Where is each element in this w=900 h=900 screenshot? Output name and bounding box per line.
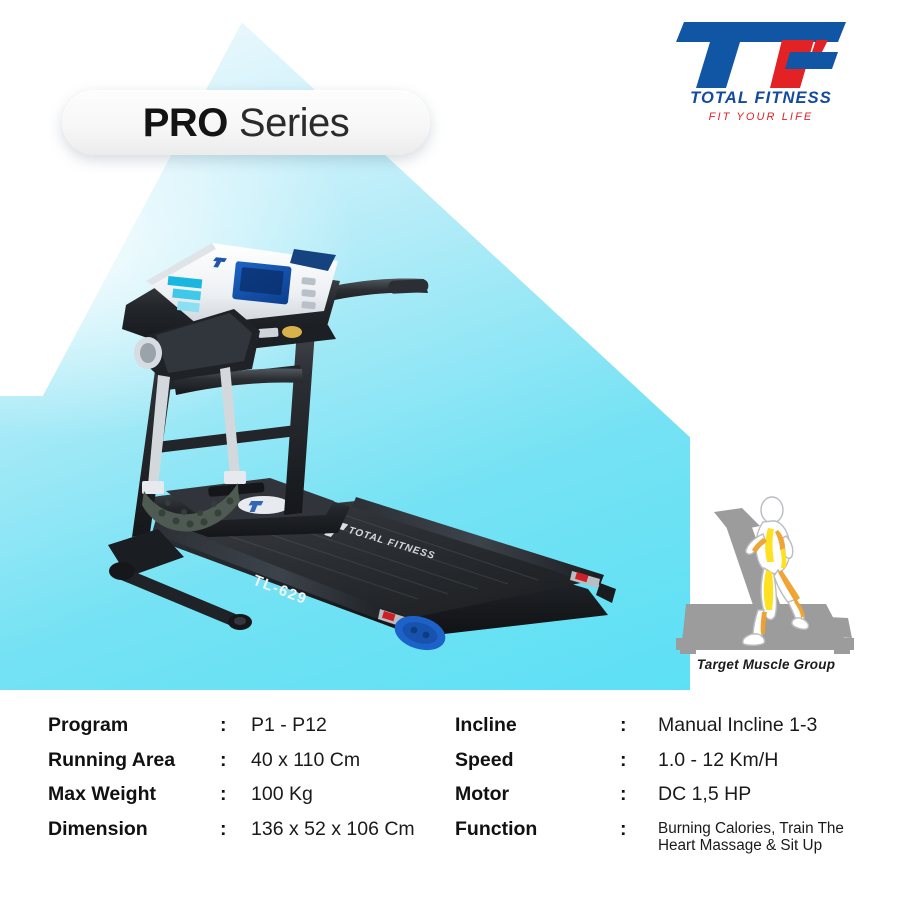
target-muscle-group-graphic — [668, 492, 864, 674]
spec-row-running-area: Running Area : 40 x 110 Cm — [48, 749, 458, 784]
spec-separator: : — [220, 818, 227, 841]
spec-column-left: Program : P1 - P12 Running Area : 40 x 1… — [48, 714, 458, 852]
spec-separator: : — [220, 714, 227, 737]
spec-label: Motor — [455, 783, 509, 806]
spec-row-max-weight: Max Weight : 100 Kg — [48, 783, 458, 818]
brand-logo: TOTAL FITNESS FIT YOUR LIFE — [670, 18, 852, 130]
spec-row-speed: Speed : 1.0 - 12 Km/H — [455, 749, 885, 784]
spec-row-motor: Motor : DC 1,5 HP — [455, 783, 885, 818]
brand-tagline: FIT YOUR LIFE — [670, 111, 852, 123]
spec-value: Manual Incline 1-3 — [658, 714, 817, 737]
product-advertisement-page: PROSeries TOTAL FITNESS FIT YOUR LIFE — [0, 0, 900, 900]
spec-column-right: Incline : Manual Incline 1-3 Speed : 1.0… — [455, 714, 885, 818]
spec-label: Function — [455, 818, 537, 841]
spec-separator: : — [220, 783, 227, 806]
spec-label: Running Area — [48, 749, 175, 772]
tf-monogram-icon — [670, 18, 852, 92]
spec-label: Program — [48, 714, 128, 737]
spec-separator: : — [620, 714, 627, 737]
pro-series-badge: PROSeries — [62, 90, 430, 155]
spec-value: 40 x 110 Cm — [251, 749, 360, 772]
spec-label: Incline — [455, 714, 517, 737]
spec-value: DC 1,5 HP — [658, 783, 751, 806]
spec-value: 100 Kg — [251, 783, 313, 806]
spec-separator: : — [620, 783, 627, 806]
spec-value: Burning Calories, Train The Heart Massag… — [658, 820, 883, 856]
spec-row-program: Program : P1 - P12 — [48, 714, 458, 749]
spec-label: Speed — [455, 749, 514, 772]
spec-value: 1.0 - 12 Km/H — [658, 749, 778, 772]
badge-light-text: Series — [239, 101, 349, 145]
target-muscle-group-caption: Target Muscle Group — [668, 657, 864, 672]
spec-label: Dimension — [48, 818, 148, 841]
spec-value: 136 x 52 x 106 Cm — [251, 818, 415, 841]
spec-separator: : — [620, 818, 627, 841]
treadmill-product-image: TL-629 TOTAL FITNESS — [88, 185, 648, 675]
spec-label: Max Weight — [48, 783, 156, 806]
spec-value: P1 - P12 — [251, 714, 327, 737]
spec-row-dimension: Dimension : 136 x 52 x 106 Cm — [48, 818, 458, 853]
spec-separator: : — [620, 749, 627, 772]
badge-bold-text: PRO — [143, 101, 228, 145]
brand-name: TOTAL FITNESS — [670, 89, 852, 108]
hero-section: PROSeries TOTAL FITNESS FIT YOUR LIFE — [0, 0, 900, 690]
spec-row-incline: Incline : Manual Incline 1-3 — [455, 714, 885, 749]
spec-separator: : — [220, 749, 227, 772]
specifications-section: Program : P1 - P12 Running Area : 40 x 1… — [0, 700, 900, 900]
